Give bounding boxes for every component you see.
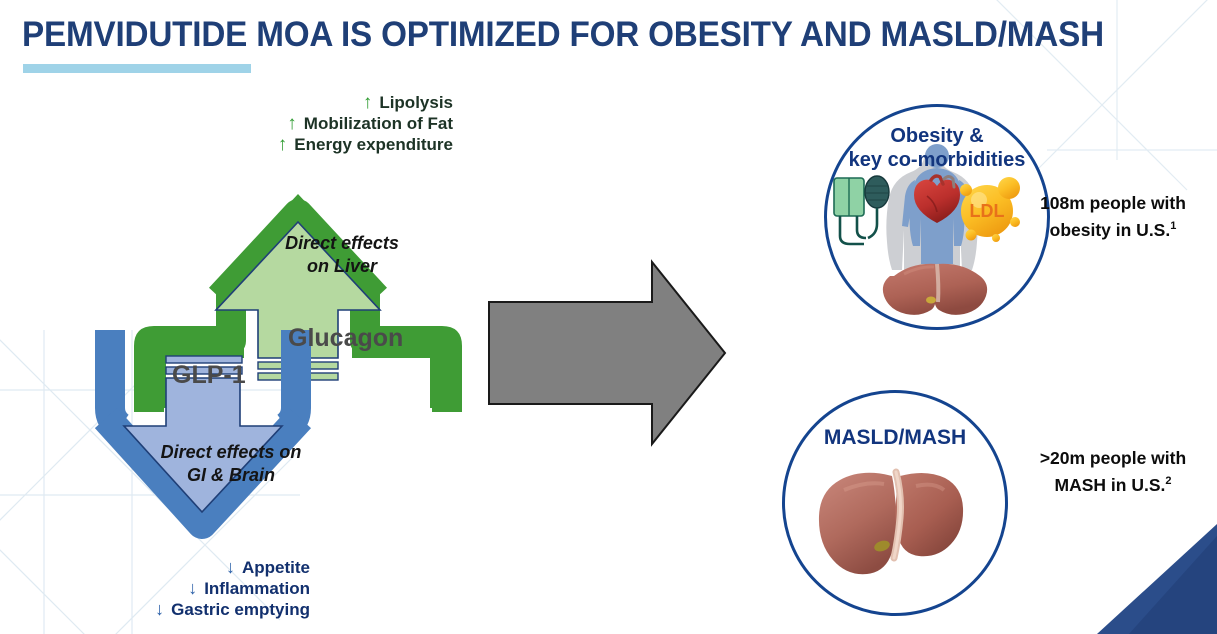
stat-mash: >20m people with MASH in U.S.2 (1018, 447, 1208, 497)
stat-obesity: 108m people with obesity in U.S.1 (1018, 192, 1208, 242)
arrow-up-icon: ↑ (363, 93, 373, 112)
effect-label: Inflammation (204, 578, 310, 599)
stat-mash-line1: >20m people with (1018, 447, 1208, 470)
corner-triangle-decoration (1067, 524, 1217, 634)
rightward-flow-arrow-icon (487, 258, 727, 448)
page-title: PEMVIDUTIDE MOA IS OPTIMIZED FOR OBESITY… (22, 14, 1104, 56)
ldl-molecule-icon: LDL (960, 177, 1020, 242)
stat-obesity-line2: obesity in U.S.1 (1018, 215, 1208, 242)
circle-title-line2: key co-morbidities (824, 148, 1050, 172)
glucagon-inner-text-line2: on Liver (242, 255, 442, 278)
glp1-inner-text: Direct effects on GI & Brain (126, 441, 336, 487)
liver-icon-large (819, 472, 963, 574)
arrow-down-icon: ↓ (188, 579, 197, 598)
liver-icon (883, 264, 987, 315)
moa-pathway-diagram (50, 150, 520, 610)
list-item: ↑ Energy expenditure (208, 134, 453, 155)
blood-pressure-cuff-icon (834, 176, 889, 244)
arrow-up-icon: ↑ (278, 135, 288, 154)
effect-label: Lipolysis (379, 92, 453, 113)
ldl-label: LDL (970, 201, 1005, 221)
glucagon-effects-list: ↑ Lipolysis ↑ Mobilization of Fat ↑ Ener… (208, 92, 453, 155)
list-item: ↑ Mobilization of Fat (208, 113, 453, 134)
glp1-inner-text-line2: GI & Brain (126, 464, 336, 487)
effect-label: Mobilization of Fat (304, 113, 453, 134)
arrow-up-icon: ↑ (287, 114, 297, 133)
effect-label: Energy expenditure (294, 134, 453, 155)
footnote-ref-1: 1 (1170, 220, 1176, 232)
effect-label: Appetite (242, 557, 310, 578)
title-underline-rule (23, 64, 251, 73)
glucagon-inner-text-line1: Direct effects (242, 232, 442, 255)
glp1-effects-list: ↓ Appetite ↓ Inflammation ↓ Gastric empt… (95, 557, 310, 620)
slide-canvas: PEMVIDUTIDE MOA IS OPTIMIZED FOR OBESITY… (0, 0, 1217, 634)
glp1-label: GLP-1 (172, 361, 246, 390)
stat-mash-line2-text: MASH in U.S. (1055, 475, 1166, 495)
circle-title-line1: Obesity & (824, 124, 1050, 148)
mash-liver-illustration (782, 390, 1008, 616)
effect-label: Gastric emptying (171, 599, 310, 620)
arrow-down-icon: ↓ (155, 600, 164, 619)
footnote-ref-2: 2 (1165, 475, 1171, 487)
glucagon-label: Glucagon (288, 324, 403, 353)
outcome-circle-mash: MASLD/MASH (782, 390, 1008, 616)
circle-title-obesity: Obesity & key co-morbidities (824, 124, 1050, 172)
list-item: ↓ Gastric emptying (95, 599, 310, 620)
list-item: ↓ Inflammation (95, 578, 310, 599)
circle-title-mash: MASLD/MASH (782, 426, 1008, 450)
outcome-circle-obesity: Obesity & key co-morbidities (824, 104, 1050, 330)
arrow-down-icon: ↓ (226, 558, 235, 577)
list-item: ↑ Lipolysis (208, 92, 453, 113)
list-item: ↓ Appetite (95, 557, 310, 578)
stat-mash-line2: MASH in U.S.2 (1018, 470, 1208, 497)
stat-obesity-line2-text: obesity in U.S. (1050, 220, 1171, 240)
glp1-inner-text-line1: Direct effects on (126, 441, 336, 464)
stat-obesity-line1: 108m people with (1018, 192, 1208, 215)
glucagon-inner-text: Direct effects on Liver (242, 232, 442, 278)
